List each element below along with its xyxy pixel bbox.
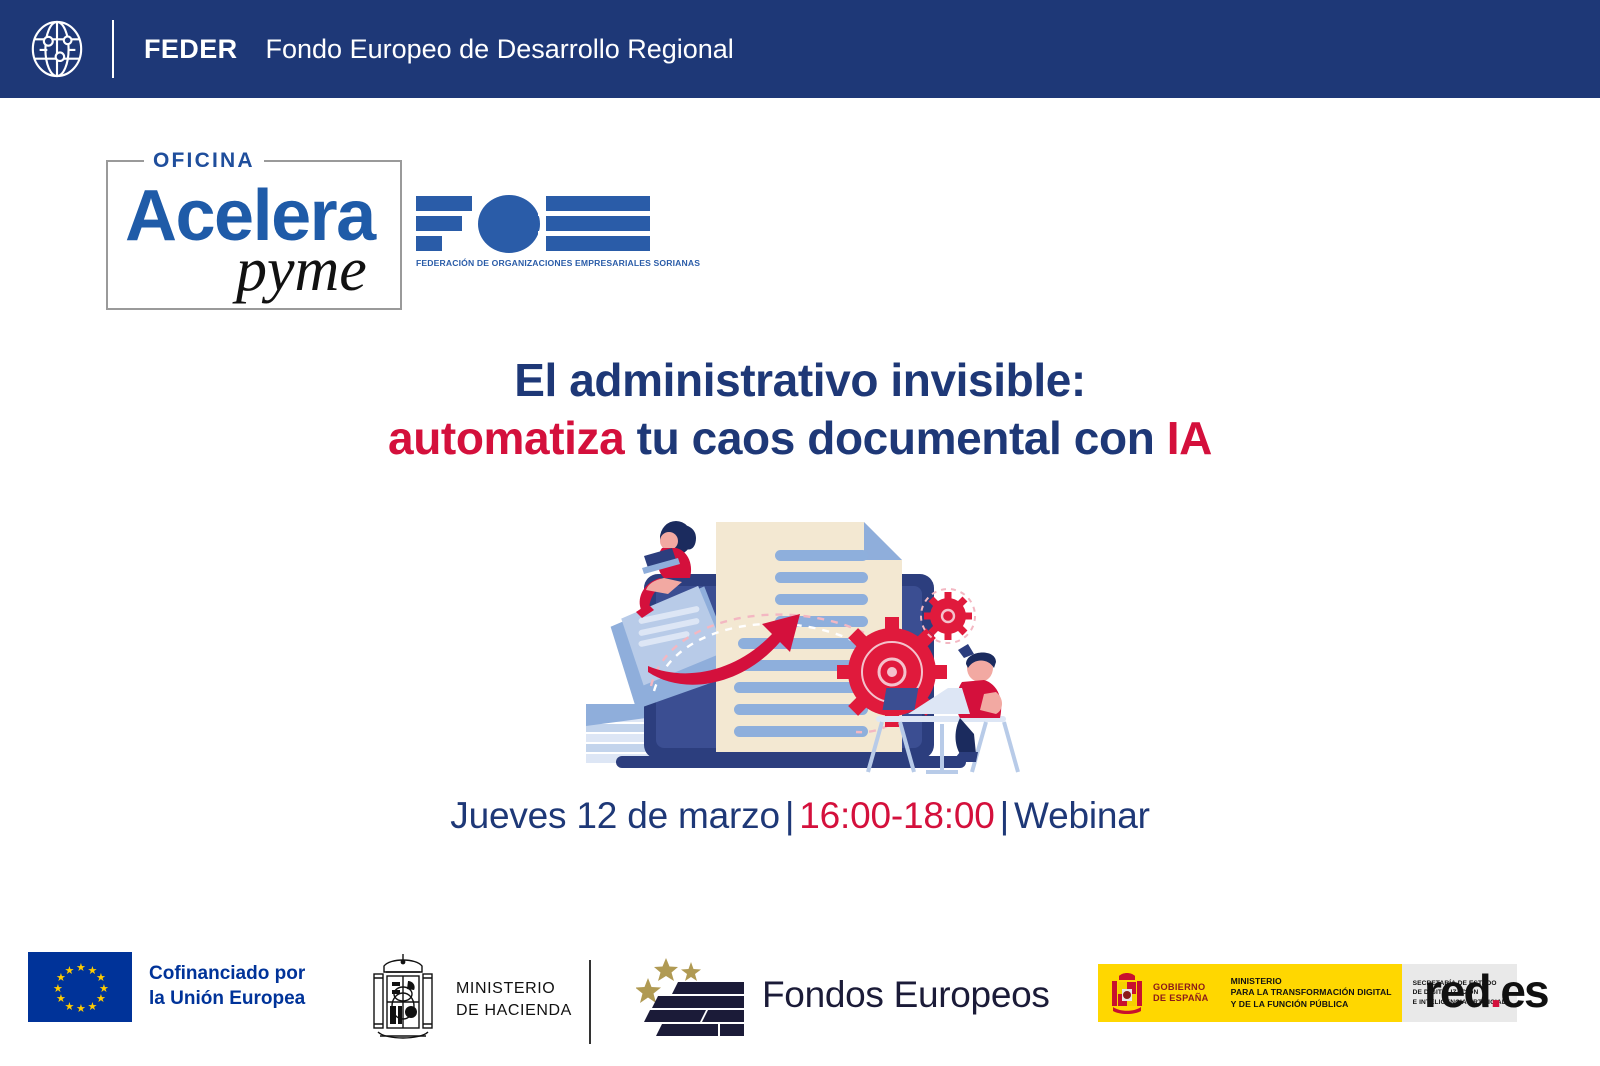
- document-automation-illustration: [556, 486, 1026, 776]
- title-accent-ia: IA: [1167, 412, 1212, 464]
- event-title: El administrativo invisible: automatiza …: [0, 352, 1600, 467]
- redes-logo: red.es: [1424, 968, 1548, 1014]
- globe-network-icon: [28, 20, 86, 78]
- gobierno-ministerio-text: MINISTERIO PARA LA TRANSFORMACIÓN DIGITA…: [1231, 976, 1392, 1010]
- gobierno-espana-text: GOBIERNO DE ESPAÑA: [1153, 982, 1209, 1005]
- event-day: Jueves 12 de marzo: [450, 795, 780, 836]
- eu-cofunding-text: Cofinanciado por la Unión Europea: [149, 962, 305, 1011]
- foes-logo: FEDERACIÓN DE ORGANIZACIONES EMPRESARIAL…: [416, 194, 656, 268]
- feder-full-name: Fondo Europeo de Desarrollo Regional: [266, 34, 734, 65]
- gobierno-line-1: GOBIERNO: [1153, 982, 1209, 994]
- gobierno-yellow-panel: GOBIERNO DE ESPAÑA MINISTERIO PARA LA TR…: [1098, 964, 1402, 1022]
- acelera-pyme-logo: OFICINA Acelera pyme: [106, 160, 402, 310]
- redes-part-2: es: [1500, 965, 1547, 1017]
- gobierno-crest-icon: [1110, 971, 1144, 1015]
- fondos-europeos-label: Fondos Europeos: [762, 974, 1050, 1016]
- eu-flag-icon: ★ ★ ★ ★ ★ ★ ★ ★ ★ ★ ★ ★: [28, 952, 132, 1022]
- footer-logos: ★ ★ ★ ★ ★ ★ ★ ★ ★ ★ ★ ★ Cofinanciado por…: [0, 940, 1600, 1066]
- event-format: Webinar: [1014, 795, 1150, 836]
- oficina-kicker: OFICINA: [153, 149, 255, 172]
- ministerio-hacienda-text: MINISTERIO DE HACIENDA: [456, 978, 572, 1021]
- redes-dot: .: [1490, 965, 1501, 1017]
- foes-wordmark-icon: [416, 194, 652, 256]
- fondos-europeos-logo: Fondos Europeos: [636, 952, 1050, 1038]
- gobierno-line-2: DE ESPAÑA: [1153, 993, 1209, 1005]
- title-line-2-rest: tu caos documental con: [624, 412, 1167, 464]
- brand-logo-row: OFICINA Acelera pyme: [106, 160, 656, 310]
- feder-abbreviation: FEDER: [144, 34, 238, 65]
- ministerio-hacienda-logo: MINISTERIO DE HACIENDA: [362, 948, 572, 1052]
- pyme-wordmark: pyme: [236, 239, 367, 301]
- fondos-europeos-mark-icon: [636, 952, 744, 1038]
- gob-ministerio-line-3: Y DE LA FUNCIÓN PÚBLICA: [1231, 999, 1392, 1010]
- eu-cofunding-logo: ★ ★ ★ ★ ★ ★ ★ ★ ★ ★ ★ ★ Cofinanciado por…: [28, 952, 305, 1022]
- footer-vertical-divider: [589, 960, 591, 1044]
- hacienda-line-1: MINISTERIO: [456, 978, 572, 1000]
- title-line-2: automatiza tu caos documental con IA: [0, 410, 1600, 468]
- gob-ministerio-line-1: MINISTERIO: [1231, 976, 1392, 987]
- spain-coat-of-arms-icon: [362, 948, 444, 1052]
- eu-text-line-1: Cofinanciado por: [149, 962, 305, 987]
- title-accent-automatiza: automatiza: [388, 412, 624, 464]
- event-datetime: Jueves 12 de marzo|16:00-18:00|Webinar: [0, 795, 1600, 837]
- datetime-separator-2: |: [995, 795, 1014, 836]
- event-time: 16:00-18:00: [799, 795, 994, 836]
- foes-subtitle: FEDERACIÓN DE ORGANIZACIONES EMPRESARIAL…: [416, 258, 656, 268]
- datetime-separator-1: |: [780, 795, 799, 836]
- hacienda-line-2: DE HACIENDA: [456, 1000, 572, 1022]
- oficina-kicker-wrap: OFICINA: [144, 149, 264, 173]
- feder-header-bar: FEDER Fondo Europeo de Desarrollo Region…: [0, 0, 1600, 98]
- header-divider: [112, 20, 114, 78]
- title-line-1: El administrativo invisible:: [0, 352, 1600, 410]
- redes-part-1: red: [1424, 965, 1490, 1017]
- eu-text-line-2: la Unión Europea: [149, 987, 305, 1012]
- gob-ministerio-line-2: PARA LA TRANSFORMACIÓN DIGITAL: [1231, 987, 1392, 998]
